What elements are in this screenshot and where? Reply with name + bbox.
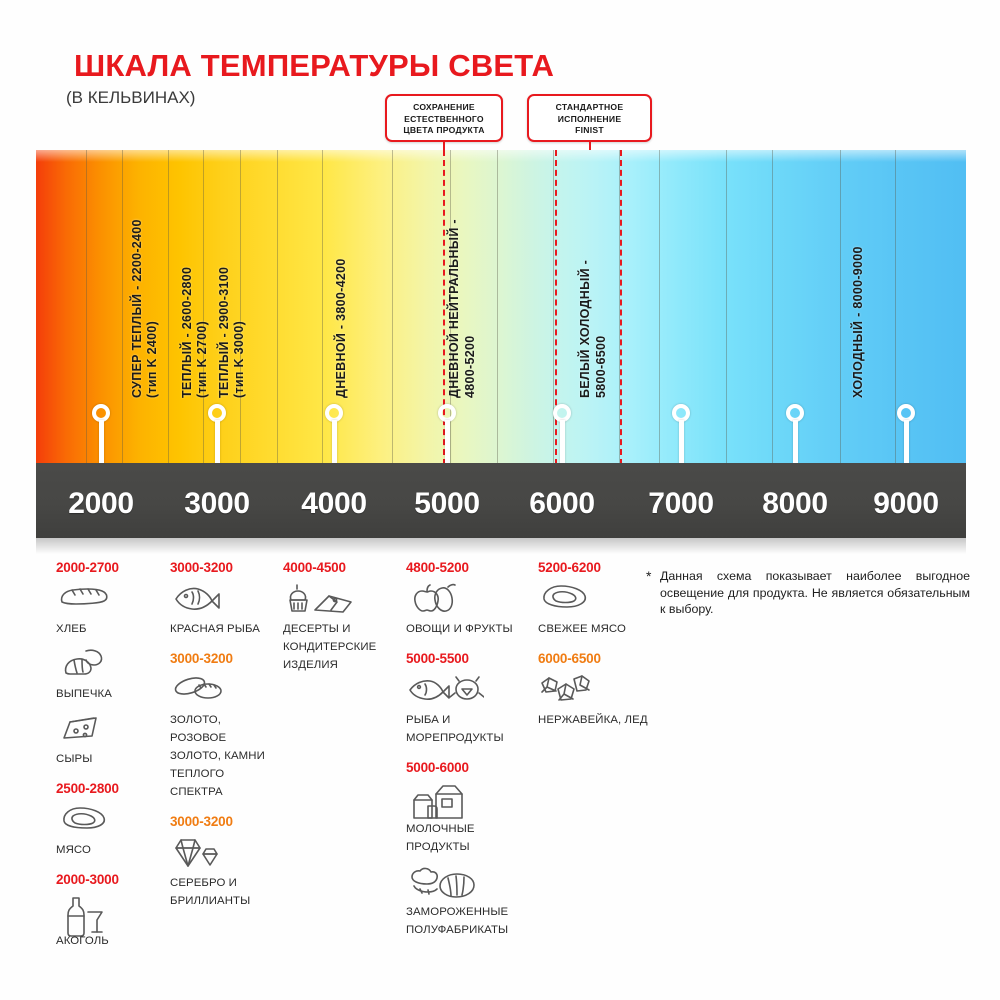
- spectrum-divider: [772, 150, 773, 465]
- legend-range-label: 2000-2700: [56, 560, 161, 575]
- spectrum-divider: [726, 150, 727, 465]
- legend-group: 2500-2800МЯСО: [56, 781, 161, 858]
- legend-item-caption: МЯСО: [56, 844, 91, 856]
- callout-natural-line3: ЦВЕТА ПРОДУКТА: [403, 125, 484, 135]
- legend-range-label: 4800-5200: [406, 560, 531, 575]
- scale-pin: [208, 404, 230, 466]
- callout-natural-line2: ЕСТЕСТВЕННОГО: [404, 114, 484, 124]
- legend-item: МЯСО: [56, 803, 161, 858]
- callout-finist-line1: СТАНДАРТНОЕ: [556, 102, 624, 112]
- legend-item: СЕРЕБРО И БРИЛЛИАНТЫ: [170, 836, 280, 909]
- callout-natural-color: СОХРАНЕНИЕ ЕСТЕСТВЕННОГО ЦВЕТА ПРОДУКТА: [385, 94, 503, 142]
- legend-item: СВЕЖЕЕ МЯСО: [538, 582, 648, 637]
- spectrum-divider: [86, 150, 87, 465]
- scale-tick-label: 9000: [856, 487, 956, 521]
- footnote-marker: *: [646, 568, 651, 585]
- spectrum-divider: [168, 150, 169, 465]
- legend-range-label: 2000-3000: [56, 872, 161, 887]
- spectrum-divider: [497, 150, 498, 465]
- band-sublabel: 5800-6500: [594, 336, 608, 398]
- legend-item-caption: СЕРЕБРО И БРИЛЛИАНТЫ: [170, 877, 250, 907]
- callout-natural-line1: СОХРАНЕНИЕ: [413, 102, 475, 112]
- legend-item: МОЛОЧНЫЕ ПРОДУКТЫ: [406, 782, 531, 855]
- spectrum-gradient: [36, 150, 966, 465]
- scale-pin: [92, 404, 114, 466]
- band-label: ДНЕВНОЙ - 3800-4200: [334, 258, 348, 398]
- band-label: ХОЛОДНЫЙ - 8000-9000: [851, 246, 865, 398]
- legend-item-caption: ОВОЩИ И ФРУКТЫ: [406, 623, 513, 635]
- band-sublabel: (тип K 3000): [232, 321, 246, 398]
- legend-item: ДЕСЕРТЫ И КОНДИТЕРСКИЕ ИЗДЕЛИЯ: [283, 582, 395, 673]
- legend-range-label: 3000-3200: [170, 560, 280, 575]
- fruit-icon: [406, 582, 531, 616]
- scale-tick-label: 4000: [284, 487, 384, 521]
- spectrum-divider: [895, 150, 896, 465]
- legend-group: 2000-2700ХЛЕБВЫПЕЧКАСЫРЫ: [56, 560, 161, 767]
- alcohol-icon: [56, 894, 161, 928]
- ice-icon: [538, 673, 648, 707]
- dairy-icon: [406, 782, 531, 816]
- legend-item-caption: КРАСНАЯ РЫБА: [170, 623, 260, 635]
- legend-range-label: 3000-3200: [170, 814, 280, 829]
- spectrum-divider: [203, 150, 204, 465]
- legend-item: РЫБА И МОРЕПРОДУКТЫ: [406, 673, 531, 746]
- legend-item: АКОГОЛЬ: [56, 894, 161, 949]
- legend-range-label: 4000-4500: [283, 560, 395, 575]
- legend-group: 3000-3200СЕРЕБРО И БРИЛЛИАНТЫ: [170, 814, 280, 909]
- cheese-icon: [56, 712, 161, 746]
- spectrum-divider: [122, 150, 123, 465]
- legend-group: 4000-4500ДЕСЕРТЫ И КОНДИТЕРСКИЕ ИЗДЕЛИЯ: [283, 560, 395, 673]
- scale-tick-label: 3000: [167, 487, 267, 521]
- scale-pin: [897, 404, 919, 466]
- legend: 2000-2700ХЛЕБВЫПЕЧКАСЫРЫ2500-2800МЯСО200…: [0, 560, 1000, 1000]
- fresh-meat-icon: [538, 582, 648, 616]
- legend-item: СЫРЫ: [56, 712, 161, 767]
- scale-pin: [325, 404, 347, 466]
- scale-pin-stem: [215, 420, 220, 468]
- band-label: ДНЕВНОЙ НЕЙТРАЛЬНЫЙ -: [447, 219, 461, 398]
- band-sublabel: (тип K 2700): [195, 321, 209, 398]
- legend-item-caption: АКОГОЛЬ: [56, 935, 109, 947]
- scale-pin: [553, 404, 575, 466]
- legend-column-5: 5200-6200СВЕЖЕЕ МЯСО6000-6500НЕРЖАВЕЙКА,…: [538, 560, 648, 742]
- scale-pin: [786, 404, 808, 466]
- legend-column-1: 2000-2700ХЛЕБВЫПЕЧКАСЫРЫ2500-2800МЯСО200…: [56, 560, 161, 963]
- scale-tick-label: 5000: [397, 487, 497, 521]
- band-label: СУПЕР ТЕПЛЫЙ - 2200-2400: [130, 219, 144, 398]
- legend-item: КРАСНАЯ РЫБА: [170, 582, 280, 637]
- legend-item: ВЫПЕЧКА: [56, 647, 161, 702]
- legend-range-label: 5200-6200: [538, 560, 648, 575]
- spectrum-divider: [240, 150, 241, 465]
- legend-item-caption: ЗАМОРОЖЕННЫЕ ПОЛУФАБРИКАТЫ: [406, 906, 508, 936]
- scale-pin: [672, 404, 694, 466]
- scale-bar-shadow: [36, 538, 966, 554]
- legend-item-caption: ВЫПЕЧКА: [56, 688, 112, 700]
- band-sublabel: (тип K 2400): [145, 321, 159, 398]
- legend-group: 5000-5500РЫБА И МОРЕПРОДУКТЫ: [406, 651, 531, 746]
- legend-item-caption: ДЕСЕРТЫ И КОНДИТЕРСКИЕ ИЗДЕЛИЯ: [283, 623, 376, 671]
- temperature-spectrum: СУПЕР ТЕПЛЫЙ - 2200-2400(тип K 2400)ТЕПЛ…: [36, 150, 966, 465]
- gold-rings-icon: [170, 673, 280, 707]
- bread-icon: [56, 582, 161, 616]
- page-subtitle: (В КЕЛЬВИНАХ): [66, 88, 195, 108]
- band-sublabel: 4800-5200: [463, 336, 477, 398]
- legend-column-2: 3000-3200КРАСНАЯ РЫБА3000-3200ЗОЛОТО, РО…: [170, 560, 280, 923]
- page-title: ШКАЛА ТЕМПЕРАТУРЫ СВЕТА: [74, 48, 554, 84]
- legend-range-label: 2500-2800: [56, 781, 161, 796]
- spectrum-divider: [277, 150, 278, 465]
- band-label: ТЕПЛЫЙ - 2900-3100: [217, 267, 231, 398]
- legend-range-label: 5000-5500: [406, 651, 531, 666]
- legend-item-caption: ЗОЛОТО, РОЗОВОЕ ЗОЛОТО, КАМНИ ТЕПЛОГО СП…: [170, 714, 265, 798]
- legend-group: 5000-6000МОЛОЧНЫЕ ПРОДУКТЫЗАМОРОЖЕННЫЕ П…: [406, 760, 531, 938]
- legend-item: ЗОЛОТО, РОЗОВОЕ ЗОЛОТО, КАМНИ ТЕПЛОГО СП…: [170, 673, 280, 800]
- legend-group: 5200-6200СВЕЖЕЕ МЯСО: [538, 560, 648, 637]
- legend-item: ХЛЕБ: [56, 582, 161, 637]
- pastry-icon: [56, 647, 161, 681]
- scale-pin-stem: [560, 420, 565, 468]
- scale-tick-label: 6000: [512, 487, 612, 521]
- frozen-food-icon: [406, 865, 531, 899]
- spectrum-divider: [322, 150, 323, 465]
- infographic-page: ШКАЛА ТЕМПЕРАТУРЫ СВЕТА (В КЕЛЬВИНАХ) СО…: [0, 0, 1000, 1000]
- legend-item-caption: ХЛЕБ: [56, 623, 87, 635]
- diamond-icon: [170, 836, 280, 870]
- legend-item-caption: СВЕЖЕЕ МЯСО: [538, 623, 626, 635]
- fish-icon: [170, 582, 280, 616]
- scale-pin-stem: [332, 420, 337, 468]
- scale-tick-label: 2000: [51, 487, 151, 521]
- legend-range-label: 3000-3200: [170, 651, 280, 666]
- legend-item-caption: РЫБА И МОРЕПРОДУКТЫ: [406, 714, 504, 744]
- footnote-text: Данная схема показывает наиболее выгодно…: [660, 568, 970, 618]
- legend-item: ОВОЩИ И ФРУКТЫ: [406, 582, 531, 637]
- scale-tick-label: 8000: [745, 487, 845, 521]
- scale-tick-label: 7000: [631, 487, 731, 521]
- footnote: * Данная схема показывает наиболее выгод…: [660, 568, 970, 618]
- scale-pin-stem: [904, 420, 909, 468]
- callout-finist-line3: FINIST: [575, 125, 604, 135]
- spectrum-divider: [840, 150, 841, 465]
- legend-group: 3000-3200ЗОЛОТО, РОЗОВОЕ ЗОЛОТО, КАМНИ Т…: [170, 651, 280, 800]
- legend-range-label: 6000-6500: [538, 651, 648, 666]
- legend-group: 4800-5200ОВОЩИ И ФРУКТЫ: [406, 560, 531, 637]
- meat-icon: [56, 803, 161, 837]
- scale-pin-stem: [99, 420, 104, 468]
- scale-pin: [438, 404, 460, 466]
- callout-finist-line2: ИСПОЛНЕНИЕ: [558, 114, 622, 124]
- spectrum-divider: [659, 150, 660, 465]
- scale-pin-stem: [679, 420, 684, 468]
- callout-finist-standard: СТАНДАРТНОЕ ИСПОЛНЕНИЕ FINIST: [527, 94, 652, 142]
- legend-range-label: 5000-6000: [406, 760, 531, 775]
- scale-pin-stem: [793, 420, 798, 468]
- spectrum-divider: [392, 150, 393, 465]
- spectrum-dash-line: [620, 150, 622, 465]
- scale-pin-stem: [445, 420, 450, 468]
- legend-item-caption: МОЛОЧНЫЕ ПРОДУКТЫ: [406, 823, 475, 853]
- legend-group: 3000-3200КРАСНАЯ РЫБА: [170, 560, 280, 637]
- seafood-icon: [406, 673, 531, 707]
- legend-item-caption: НЕРЖАВЕЙКА, ЛЕД: [538, 714, 648, 726]
- dessert-icon: [283, 582, 395, 616]
- legend-column-3: 4000-4500ДЕСЕРТЫ И КОНДИТЕРСКИЕ ИЗДЕЛИЯ: [283, 560, 395, 687]
- legend-item-caption: СЫРЫ: [56, 753, 92, 765]
- legend-item: НЕРЖАВЕЙКА, ЛЕД: [538, 673, 648, 728]
- legend-group: 6000-6500НЕРЖАВЕЙКА, ЛЕД: [538, 651, 648, 728]
- band-label: БЕЛЫЙ ХОЛОДНЫЙ -: [578, 260, 592, 398]
- legend-group: 2000-3000АКОГОЛЬ: [56, 872, 161, 949]
- legend-item: ЗАМОРОЖЕННЫЕ ПОЛУФАБРИКАТЫ: [406, 865, 531, 938]
- legend-column-4: 4800-5200ОВОЩИ И ФРУКТЫ5000-5500РЫБА И М…: [406, 560, 531, 952]
- band-label: ТЕПЛЫЙ - 2600-2800: [180, 267, 194, 398]
